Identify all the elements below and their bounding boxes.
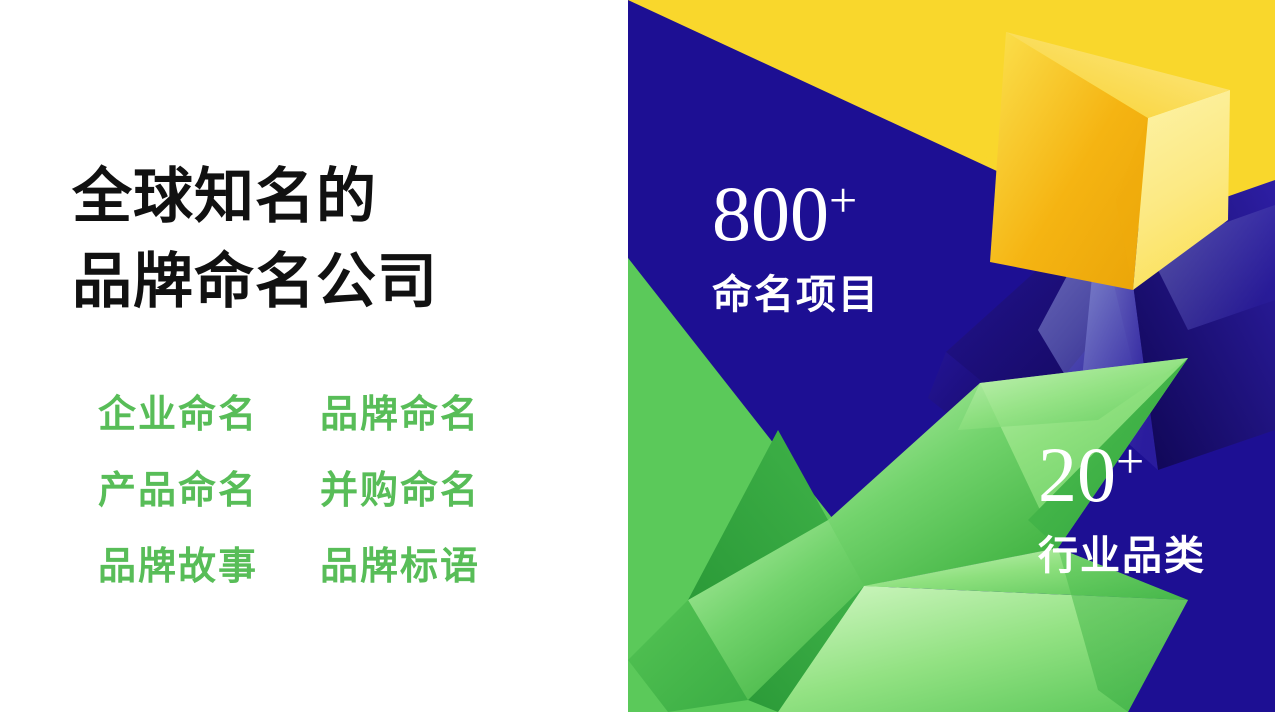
stat-industry-categories-number: 20 bbox=[1038, 431, 1116, 518]
headline-line-1: 全球知名的 bbox=[72, 155, 438, 240]
service-item-corporate-naming[interactable]: 企业命名 bbox=[98, 396, 320, 434]
stat-naming-projects-value: 800+ bbox=[712, 175, 880, 253]
page-title: 全球知名的 品牌命名公司 bbox=[72, 155, 438, 325]
stat-industry-categories: 20+ 行业品类 bbox=[1038, 436, 1206, 576]
stat-industry-categories-label: 行业品类 bbox=[1038, 536, 1206, 576]
service-item-brand-naming[interactable]: 品牌命名 bbox=[320, 396, 480, 434]
promo-slide: 全球知名的 品牌命名公司 企业命名 品牌命名 产品命名 并购命名 品牌故事 品牌… bbox=[0, 0, 1275, 712]
graphic-panel: 800+ 命名项目 20+ 行业品类 bbox=[628, 0, 1275, 712]
headline-line-2: 品牌命名公司 bbox=[72, 240, 438, 325]
service-item-brand-story[interactable]: 品牌故事 bbox=[98, 548, 320, 586]
service-list: 企业命名 品牌命名 产品命名 并购命名 品牌故事 品牌标语 bbox=[98, 396, 480, 586]
abstract-geometry-graphic bbox=[628, 0, 1275, 712]
service-item-brand-slogan[interactable]: 品牌标语 bbox=[320, 548, 480, 586]
stat-industry-categories-value: 20+ bbox=[1038, 436, 1206, 514]
service-item-merger-naming[interactable]: 并购命名 bbox=[320, 472, 480, 510]
service-item-product-naming[interactable]: 产品命名 bbox=[98, 472, 320, 510]
stat-industry-categories-suffix: + bbox=[1116, 433, 1144, 489]
left-content-panel: 全球知名的 品牌命名公司 企业命名 品牌命名 产品命名 并购命名 品牌故事 品牌… bbox=[0, 0, 628, 712]
stat-naming-projects-number: 800 bbox=[712, 170, 829, 257]
stat-naming-projects: 800+ 命名项目 bbox=[712, 175, 880, 315]
stat-naming-projects-suffix: + bbox=[829, 172, 857, 228]
stat-naming-projects-label: 命名项目 bbox=[712, 275, 880, 315]
